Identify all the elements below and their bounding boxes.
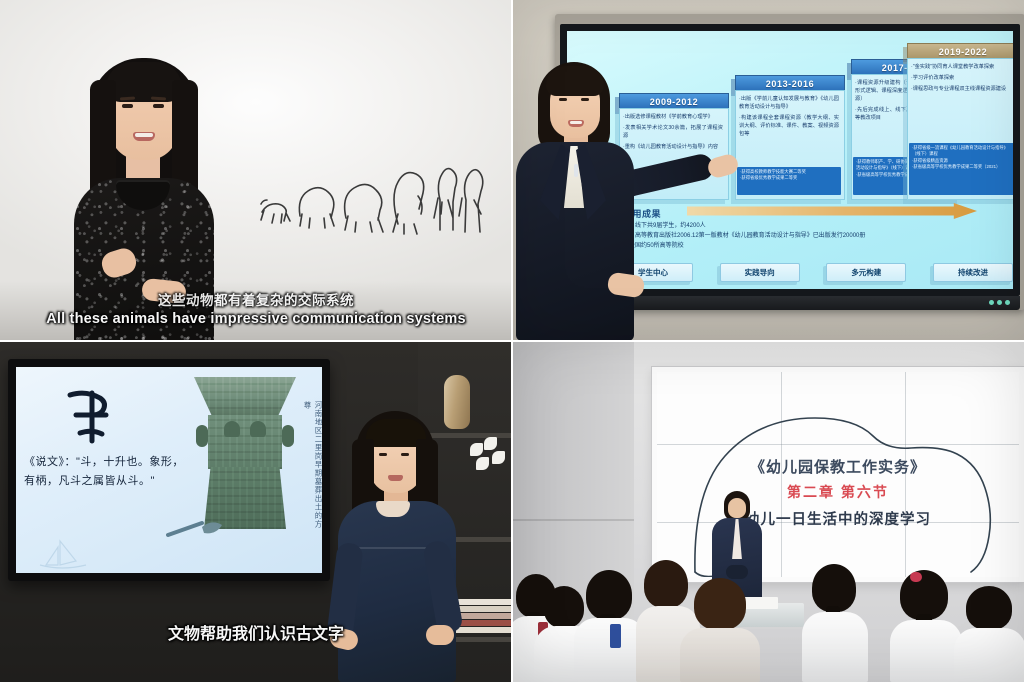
wall-trim-line (512, 519, 634, 521)
panel-smartboard-classroom: 2009-2012 ·出版选修课程教材《学前教育心理学》 ·发表相关学术论文30… (512, 0, 1024, 341)
pill-continuous-improvement[interactable]: 持续改进 (933, 263, 1013, 282)
vessel-flared-mouth (194, 377, 296, 417)
flower-petal (484, 437, 497, 450)
student-figure (802, 564, 868, 682)
flower-petal (476, 457, 489, 470)
hair-fringe (546, 66, 604, 96)
face (728, 498, 746, 518)
mouth (568, 120, 584, 127)
timeline-bullet: ·出版选修课程教材《学前教育心理学》 (623, 113, 723, 121)
pill-practice-oriented[interactable]: 实践导向 (720, 263, 800, 282)
vessel-ornament-left (224, 421, 240, 437)
vessel-texture (208, 415, 282, 469)
timeline-bullet: ·"金实践"协同育人课堂教学改革探索 (911, 63, 1013, 71)
student-uniform (954, 628, 1024, 682)
shuowen-text: 《说文》："斗，十升也。象形，有柄，凡斗之属皆从斗。" (24, 453, 184, 492)
results-line: ·慕课：线下共9届学生，约4200人 (615, 221, 955, 231)
artifact-caption: 河南地区二里岗早期墓葬出土的方尊 (302, 401, 322, 533)
ink-wash-boat-decor (34, 535, 96, 571)
student-uniform (890, 620, 962, 682)
timeline-awards-2: ·获得高校教师教学技能大赛二等奖 ·获得省级优秀教学成果二等奖 (737, 167, 841, 195)
student-head (966, 586, 1012, 630)
projection-title: 《幼儿园保教工作实务》 (657, 456, 1019, 477)
student-head (900, 570, 948, 620)
student-hair-tie (910, 572, 922, 582)
eye-left (379, 453, 387, 456)
subtitle-chinese: 这些动物都有着复杂的交际系统 (0, 289, 512, 309)
hair-fringe (106, 62, 182, 102)
flower-petal (470, 443, 483, 456)
vessel-body (208, 415, 282, 469)
student-head (694, 578, 746, 630)
mouth (133, 132, 155, 141)
vessel-flange-left (196, 425, 208, 447)
award-line: ·获省级高等学校优秀教学成果二等奖（2021） (912, 164, 1012, 170)
progress-arrow-band (687, 203, 977, 219)
pill-multi-construction[interactable]: 多元构建 (826, 263, 906, 282)
timeline-bullet: ·发表相关学术论文30余篇，拓展了课程资源 (623, 124, 723, 140)
eye-right (581, 98, 589, 101)
vessel-texture (194, 377, 296, 417)
screenshot-root: 这些动物都有着复杂的交际系统 All these animals have im… (0, 0, 1024, 682)
human-evolution-illustration (258, 152, 486, 236)
timeline-bullets-2: ·出版《学前儿童认知发展与教育》《幼儿园教育活动设计与指导》 ·构建该课程全套课… (735, 92, 843, 164)
bronze-arrowhead-artifact (166, 517, 226, 539)
lapel-pin (574, 164, 578, 177)
shuowen-quote: 《说文》："斗，十升也。象形，有柄，凡斗之属皆从斗。" (24, 453, 184, 492)
student-head (586, 570, 632, 620)
student-neck-tie (610, 624, 621, 648)
student-figure (680, 578, 760, 682)
eye-left (559, 98, 567, 101)
oracle-bone-character (58, 385, 126, 447)
award-line: ·获得省级一流课程《幼儿园教育活动设计与指导》（线下）课程 (912, 145, 1012, 158)
timeline-bullets-4: ·"金实践"协同育人课堂教学改革探索 ·学习评价改革探索 ·课程思政与专业课程双… (907, 60, 1013, 136)
principle-pill-row: 学生中心 实践导向 多元构建 持续改进 (613, 263, 1013, 282)
white-lily-flowers (468, 437, 512, 481)
timeline-bullet: ·构建该课程全套课程资源（教学大纲、实训大纲、评价标准、课件、教案、视频资源包等 (739, 114, 839, 138)
award-line: ·获得省级优秀教学成果二等奖 (740, 175, 838, 181)
presenter-teacher-2 (512, 60, 630, 341)
timeline-awards-4: ·获得省级一流课程《幼儿园教育活动设计与指导》（线下）课程 ·获得省级精品资源 … (909, 143, 1013, 195)
mouth (388, 475, 403, 481)
subtitle-chinese-bottom-left: 文物帮助我们认识古文字 (0, 620, 512, 644)
eye-right (401, 453, 409, 456)
status-led-icon (1005, 300, 1010, 305)
status-led-icon (989, 300, 994, 305)
student-uniform (680, 628, 760, 682)
student-figure (890, 570, 962, 682)
status-led-group (989, 300, 1010, 305)
timeline-bullet: ·课程思政与专业课程双主线课程资源建设 (911, 85, 1013, 93)
timeline-bullet: ·出版《学前儿童认知发展与教育》《幼儿园教育活动设计与指导》 (739, 95, 839, 111)
vessel-flange-right (282, 425, 294, 447)
results-line: ·覆盖全国约50所高等院校 (615, 241, 955, 251)
student-uniform (802, 612, 868, 682)
vessel-ornament-right (250, 421, 266, 437)
flower-petal (492, 451, 505, 464)
student-head (812, 564, 856, 612)
eye-right (153, 104, 164, 108)
eye-left (122, 104, 133, 108)
student-figure (954, 586, 1024, 682)
monitor-screen: 《说文》："斗，十升也。象形，有柄，凡斗之属皆从斗。" 河南地区二里岗早期墓葬出… (16, 367, 322, 573)
panel-lecture-hall: 《幼儿园保教工作实务》 第二章 第六节 幼儿一日生活中的深度学习 (512, 341, 1024, 682)
display-monitor: 《说文》："斗，十升也。象形，有柄，凡斗之属皆从斗。" 河南地区二里岗早期墓葬出… (8, 359, 330, 581)
subtitle-english: All these animals have impressive commun… (0, 311, 512, 327)
timeline-bullet: ·重构《幼儿园教育活动设计与指导》内容 (623, 143, 723, 151)
student-audience-row (512, 542, 1024, 682)
results-line: ·教材：高等教育出版社2006.12第一版教材《幼儿园教育活动设计与指导》已出版… (615, 231, 955, 241)
status-led-icon (997, 300, 1002, 305)
bronze-zun-vessel (192, 377, 298, 537)
results-section-lines: ·慕课：线下共9届学生，约4200人 ·教材：高等教育出版社2006.12第一版… (615, 221, 955, 252)
panel-studio-lecture: 这些动物都有着复杂的交际系统 All these animals have im… (0, 0, 512, 341)
timeline-bullet: ·学习评价改革探索 (911, 74, 1013, 82)
